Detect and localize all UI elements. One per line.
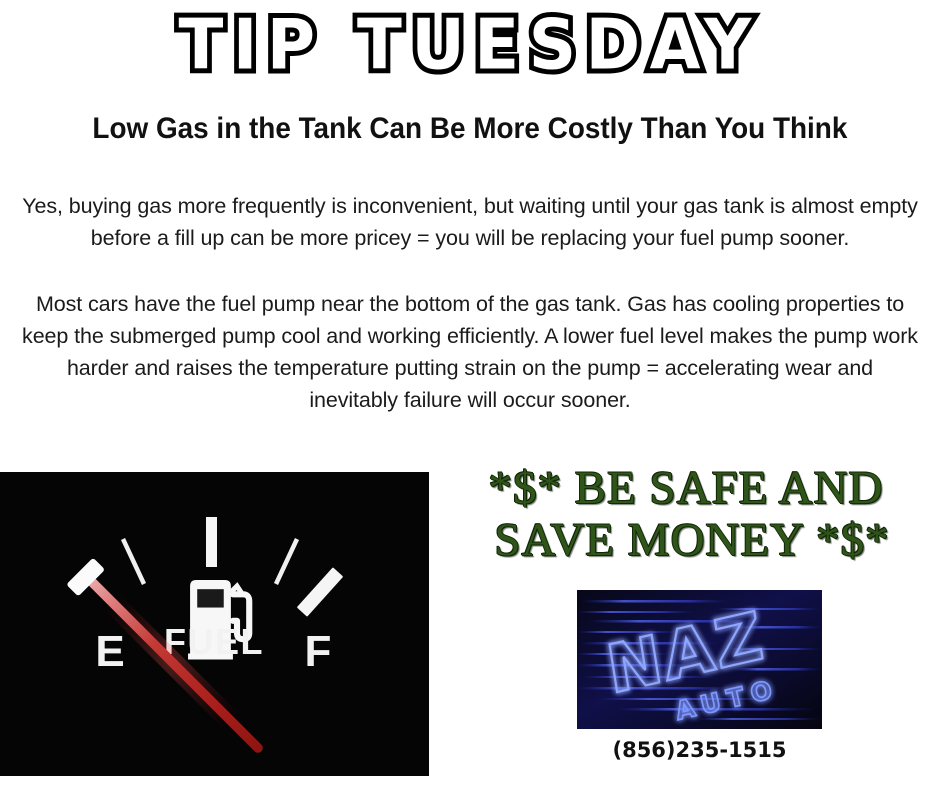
slogan-block: *$* BE SAFE AND SAVE MONEY *$* [440, 462, 940, 566]
page-title: TIP TUESDAY [179, 10, 761, 79]
naz-auto-logo-graphic: NAZ AUTO [577, 590, 822, 729]
fuel-gauge-graphic: FUEL E F [0, 472, 429, 776]
poster-title-banner: TIP TUESDAY [0, 0, 940, 90]
slogan-line-1: *$* BE SAFE AND [440, 462, 940, 514]
subtitle-container: Low Gas in the Tank Can Be More Costly T… [0, 112, 940, 145]
fuel-gauge-image: FUEL E F [0, 472, 429, 776]
article-body: Yes, buying gas more frequently is incon… [20, 190, 920, 416]
paragraph-1: Yes, buying gas more frequently is incon… [20, 190, 920, 254]
phone-number: (856)235-1515 [612, 738, 786, 762]
slogan-line-2: SAVE MONEY *$* [440, 514, 940, 566]
phone-number-container: (856)235-1515 [577, 738, 822, 762]
naz-auto-logo: NAZ AUTO [577, 590, 822, 729]
paragraph-2: Most cars have the fuel pump near the bo… [20, 288, 920, 416]
poster-subtitle: Low Gas in the Tank Can Be More Costly T… [93, 112, 848, 145]
gauge-label-full: F [305, 627, 332, 676]
tick-half [206, 517, 217, 567]
gauge-label-empty: E [95, 627, 124, 676]
